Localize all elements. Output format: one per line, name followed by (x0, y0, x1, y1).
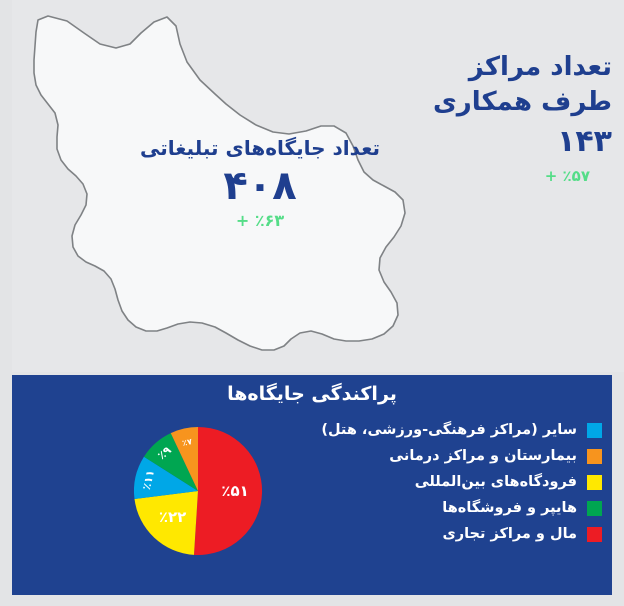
stat-advertising-spots: تعداد جایگاه‌های تبلیغاتی ۴۰۸ + ٪۶۳ (130, 136, 390, 230)
panel-title: پراکندگی جایگاه‌ها (12, 383, 612, 405)
stat-partner-centers-value: ۱۴۳ (420, 122, 612, 161)
map-section: تعداد جایگاه‌های تبلیغاتی ۴۰۸ + ٪۶۳ تعدا… (12, 0, 624, 372)
legend-item[interactable]: فرودگاه‌های بین‌المللی (242, 469, 602, 495)
legend-item-label: بیمارستان و مراکز درمانی (389, 449, 577, 464)
legend-item-label: سایر (مراکز فرهنگی-ورزشی، هتل) (321, 423, 577, 438)
stat-partner-centers-label-line2: طرف همکاری (420, 85, 612, 120)
legend-item-label: هایپر و فروشگاه‌ها (442, 501, 577, 516)
infographic-root: تعداد جایگاه‌های تبلیغاتی ۴۰۸ + ٪۶۳ تعدا… (0, 0, 624, 606)
stat-partner-centers-label-line1: تعداد مراکز (420, 50, 612, 85)
stat-advertising-spots-delta: + ٪۶۳ (130, 211, 390, 230)
legend-item-label: مال و مراکز تجاری (442, 527, 577, 542)
stat-advertising-spots-label: تعداد جایگاه‌های تبلیغاتی (130, 136, 390, 161)
legend-item[interactable]: مال و مراکز تجاری (242, 521, 602, 547)
legend-color-swatch (587, 423, 602, 438)
legend-color-swatch (587, 475, 602, 490)
stat-partner-centers-delta: + ٪۵۷ (420, 167, 590, 187)
legend-item[interactable]: سایر (مراکز فرهنگی-ورزشی، هتل) (242, 417, 602, 443)
legend-color-swatch (587, 449, 602, 464)
legend-color-swatch (587, 501, 602, 516)
legend-item[interactable]: بیمارستان و مراکز درمانی (242, 443, 602, 469)
legend-item[interactable]: هایپر و فروشگاه‌ها (242, 495, 602, 521)
legend-item-label: فرودگاه‌های بین‌المللی (415, 475, 577, 490)
pie-slice-label: ٪۲۲ (159, 508, 186, 526)
distribution-panel: پراکندگی جایگاه‌ها ٪۵۱٪۲۲٪۱۱٪۹٪۷ سایر (م… (12, 375, 612, 595)
stat-advertising-spots-value: ۴۰۸ (130, 163, 390, 209)
pie-chart-area: ٪۵۱٪۲۲٪۱۱٪۹٪۷ سایر (مراکز فرهنگی-ورزشی، … (12, 415, 612, 595)
legend-color-swatch (587, 527, 602, 542)
chart-legend: سایر (مراکز فرهنگی-ورزشی، هتل)بیمارستان … (242, 417, 602, 547)
stat-partner-centers: تعداد مراکز طرف همکاری ۱۴۳ + ٪۵۷ (420, 50, 620, 187)
